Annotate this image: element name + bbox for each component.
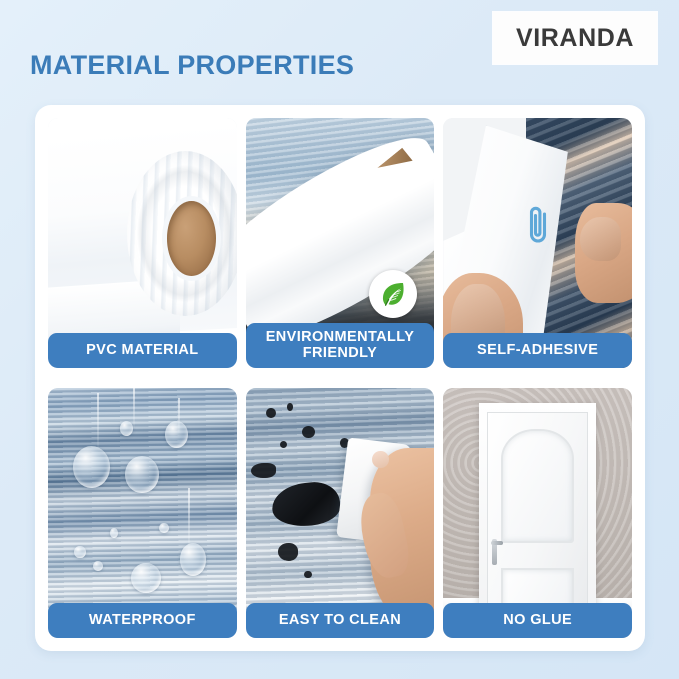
water-streak bbox=[133, 388, 135, 428]
pvc-cardboard-core bbox=[167, 201, 216, 276]
stain-spot bbox=[304, 571, 312, 579]
feature-tile-pvc-material[interactable]: PVC MATERIAL bbox=[48, 118, 237, 368]
feature-tile-self-adhesive[interactable]: SELF-ADHESIVE bbox=[443, 118, 632, 368]
self-adhesive-image bbox=[443, 118, 632, 368]
brand-name: VIRANDA bbox=[516, 24, 634, 53]
feature-label-waterproof: WATERPROOF bbox=[48, 603, 237, 638]
no-glue-image bbox=[443, 388, 632, 638]
stain-spot bbox=[266, 408, 275, 418]
white-door bbox=[487, 412, 588, 618]
water-droplet bbox=[110, 528, 118, 538]
water-streak bbox=[97, 393, 99, 448]
feature-tile-no-glue[interactable]: NO GLUE bbox=[443, 388, 632, 638]
feature-label-no-glue: NO GLUE bbox=[443, 603, 632, 638]
easy-to-clean-image bbox=[246, 388, 435, 638]
paperclip-icon bbox=[526, 203, 552, 249]
feature-tile-easy-to-clean[interactable]: EASY TO CLEAN bbox=[246, 388, 435, 638]
waterproof-image bbox=[48, 388, 237, 638]
door-frame bbox=[479, 403, 596, 618]
feature-label-environmentally-friendly: ENVIRONMENTALLY FRIENDLY bbox=[246, 323, 435, 368]
feature-tile-waterproof[interactable]: WATERPROOF bbox=[48, 388, 237, 638]
feature-label-pvc-material: PVC MATERIAL bbox=[48, 333, 237, 368]
water-droplet bbox=[93, 561, 102, 571]
features-card: PVC MATERIAL bbox=[35, 105, 645, 651]
brand-logo-box: VIRANDA bbox=[493, 12, 657, 64]
feature-tile-environmentally-friendly[interactable]: ENVIRONMENTALLY FRIENDLY bbox=[246, 118, 435, 368]
stain-spot bbox=[251, 463, 276, 478]
door-panel-top bbox=[501, 429, 574, 543]
feature-label-self-adhesive: SELF-ADHESIVE bbox=[443, 333, 632, 368]
feature-label-easy-to-clean: EASY TO CLEAN bbox=[246, 603, 435, 638]
features-grid: PVC MATERIAL bbox=[48, 118, 632, 638]
stain-spot bbox=[278, 543, 299, 561]
pvc-roll-image bbox=[48, 118, 237, 368]
fingernail bbox=[372, 451, 389, 469]
water-droplet bbox=[165, 421, 188, 449]
right-hand bbox=[575, 203, 632, 303]
water-droplet bbox=[180, 543, 206, 576]
stain-spot bbox=[287, 403, 293, 411]
water-droplet bbox=[131, 563, 161, 593]
infographic-page: VIRANDA MATERIAL PROPERTIES PVC MATERIAL bbox=[0, 0, 679, 679]
page-title: MATERIAL PROPERTIES bbox=[30, 50, 354, 81]
door-handle bbox=[492, 539, 497, 565]
stain-spot bbox=[280, 441, 288, 449]
roll-inner-tip bbox=[378, 147, 414, 181]
water-droplet bbox=[74, 546, 85, 559]
water-droplet bbox=[120, 421, 133, 436]
striped-wallpaper-background bbox=[48, 388, 237, 638]
water-droplet bbox=[159, 523, 168, 533]
water-droplet bbox=[73, 446, 111, 489]
water-droplet bbox=[125, 456, 159, 494]
